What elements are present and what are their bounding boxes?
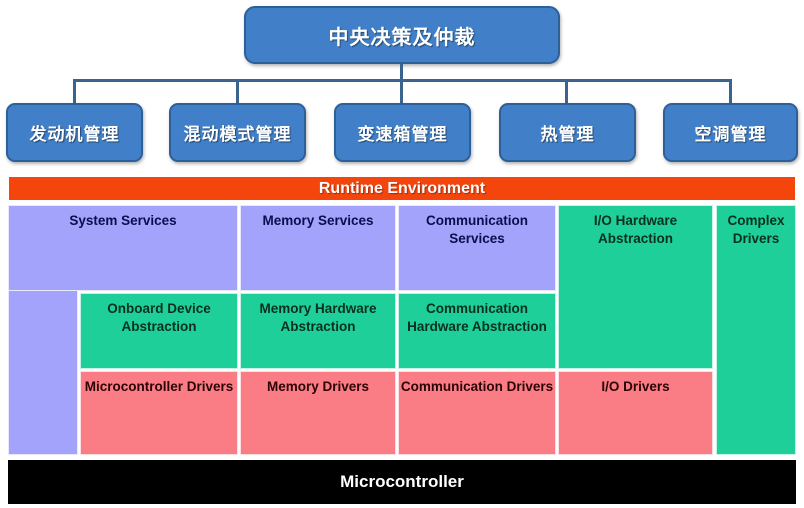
bsw-cell-memory-services[interactable]: Memory Services: [240, 205, 396, 291]
bsw-cell-onboard-device-abstraction[interactable]: Onboard Device Abstraction: [80, 293, 238, 369]
connector-drop-4: [565, 79, 568, 104]
basic-software-stack: Memory ServicesCommunication ServicesI/O…: [8, 205, 796, 455]
domain-box-3[interactable]: 变速箱管理: [334, 103, 471, 162]
bsw-cell-memory-drivers[interactable]: Memory Drivers: [240, 371, 396, 455]
domain-box-4[interactable]: 热管理: [499, 103, 636, 162]
microcontroller-bar: Microcontroller: [8, 460, 796, 504]
bsw-cell-microcontroller-drivers[interactable]: Microcontroller Drivers: [80, 371, 238, 455]
bsw-cell-memory-hardware-abstraction[interactable]: Memory Hardware Abstraction: [240, 293, 396, 369]
bsw-cell-system-services-header[interactable]: System Services: [8, 205, 238, 291]
domain-box-5[interactable]: 空调管理: [663, 103, 798, 162]
bsw-cell-communication-drivers[interactable]: Communication Drivers: [398, 371, 556, 455]
runtime-environment-bar: Runtime Environment: [8, 176, 796, 201]
domain-box-2[interactable]: 混动模式管理: [169, 103, 306, 162]
central-decision-box[interactable]: 中央决策及仲裁: [244, 6, 560, 64]
connector-drop-1: [73, 79, 76, 104]
autosar-architecture-diagram: 中央决策及仲裁 发动机管理混动模式管理变速箱管理热管理空调管理 Runtime …: [0, 0, 804, 508]
bsw-cell-io-hardware-abstraction[interactable]: I/O Hardware Abstraction: [558, 205, 713, 369]
connector-drop-2: [236, 79, 239, 104]
bsw-cell-complex-drivers[interactable]: Complex Drivers: [716, 205, 796, 455]
connector-trunk-vertical: [400, 64, 403, 80]
connector-drop-5: [729, 79, 732, 104]
connector-drop-3: [400, 79, 403, 104]
bsw-cell-io-drivers[interactable]: I/O Drivers: [558, 371, 713, 455]
bsw-cell-communication-services[interactable]: Communication Services: [398, 205, 556, 291]
bsw-cell-communication-hardware-abstraction[interactable]: Communication Hardware Abstraction: [398, 293, 556, 369]
domain-box-1[interactable]: 发动机管理: [6, 103, 143, 162]
